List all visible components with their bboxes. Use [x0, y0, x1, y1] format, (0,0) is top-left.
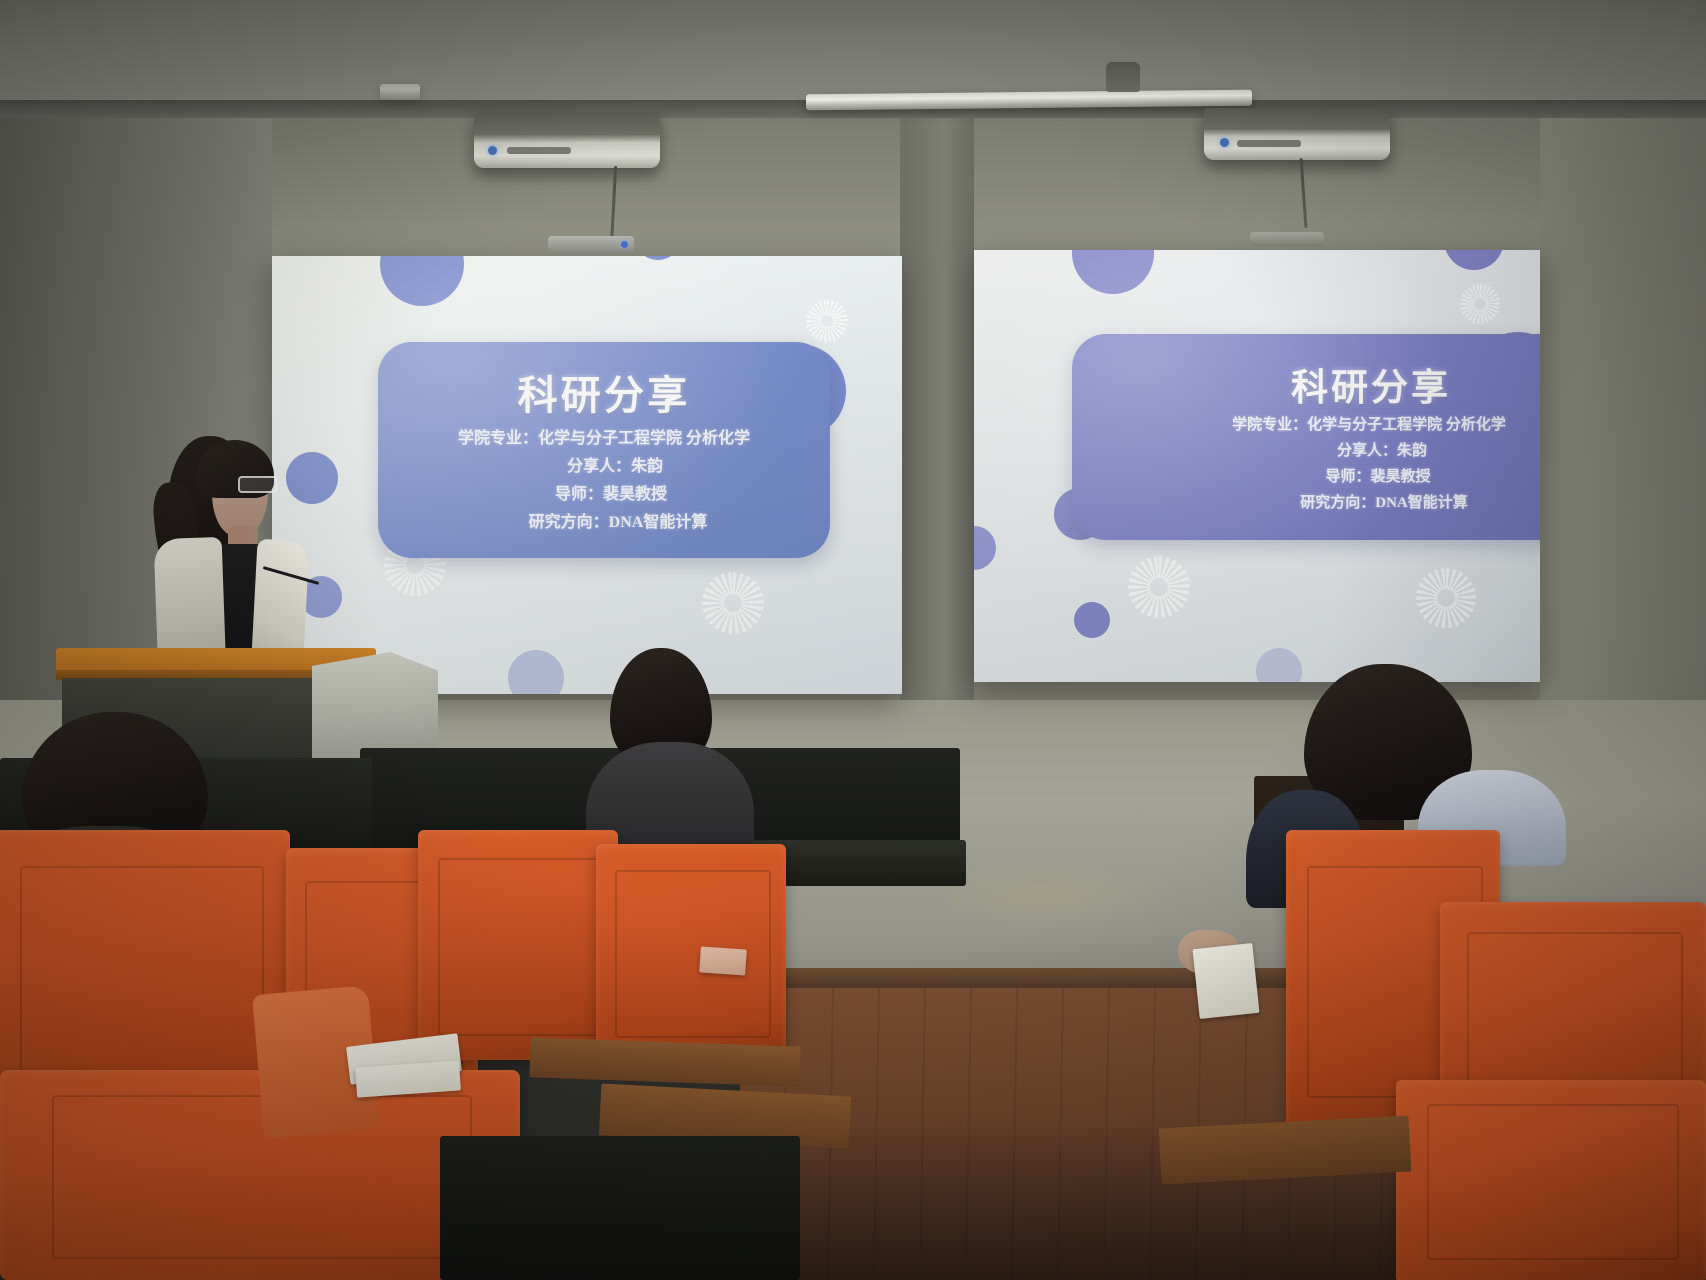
decorative-circle — [1444, 250, 1504, 270]
ceiling-speaker-right — [1250, 232, 1324, 246]
sunburst-decoration-icon — [806, 300, 848, 342]
projector-lens-icon — [1220, 138, 1229, 147]
slide-title-card: 科研分享 学院专业：化学与分子工程学院 分析化学 分享人：朱韵 导师：裴昊教授 … — [378, 342, 830, 558]
decorative-circle — [1072, 250, 1154, 294]
lecture-hall-photo: 科研分享 学院专业：化学与分子工程学院 分析化学 分享人：朱韵 导师：裴昊教授 … — [0, 0, 1706, 1280]
sunburst-decoration-icon — [702, 572, 764, 634]
slide-line-presenter: 分享人：朱韵 — [567, 453, 663, 481]
slide-line-advisor: 导师：裴昊教授 — [555, 481, 667, 509]
speaker-led-icon — [621, 241, 628, 248]
left-projection-screen: 科研分享 学院专业：化学与分子工程学院 分析化学 分享人：朱韵 导师：裴昊教授 … — [272, 256, 902, 694]
slide-title: 科研分享 — [1291, 357, 1451, 411]
glasses-icon — [238, 476, 278, 493]
handout-paper — [1193, 943, 1260, 1019]
right-wall-edge — [1540, 118, 1706, 758]
slide-title-card: 科研分享 学院专业：化学与分子工程学院 分析化学 分享人：朱韵 导师：裴昊教授 … — [1072, 334, 1540, 540]
slide-line-college-major: 学院专业：化学与分子工程学院 分析化学 — [1232, 413, 1506, 439]
desk-item — [699, 946, 747, 975]
presenter — [150, 428, 320, 678]
sunburst-decoration-icon — [1128, 556, 1190, 618]
slide-line-research-direction: 研究方向：DNA智能计算 — [1300, 491, 1468, 517]
slide-line-presenter: 分享人：朱韵 — [1337, 439, 1427, 465]
slide-line-advisor: 导师：裴昊教授 — [1325, 465, 1430, 491]
row-desk — [529, 1037, 800, 1086]
wall-stain — [950, 860, 1180, 930]
row-desk — [440, 1136, 800, 1280]
decorative-circle — [634, 256, 682, 260]
fluorescent-light-icon — [380, 84, 420, 100]
decorative-circle — [974, 526, 996, 570]
sunburst-decoration-icon — [1416, 568, 1476, 628]
projector-lens-icon — [488, 146, 497, 155]
decorative-circle — [1074, 602, 1110, 638]
ceiling-speaker-left — [548, 236, 634, 254]
slide-title: 科研分享 — [518, 363, 691, 421]
sunburst-decoration-icon — [1460, 284, 1500, 324]
decorative-circle — [508, 650, 564, 694]
projector-right — [1204, 108, 1390, 160]
decorative-circle — [380, 256, 464, 306]
right-projection-screen: 科研分享 学院专业：化学与分子工程学院 分析化学 分享人：朱韵 导师：裴昊教授 … — [974, 250, 1540, 682]
auditorium-seat — [1396, 1080, 1706, 1280]
slide-line-college-major: 学院专业：化学与分子工程学院 分析化学 — [458, 425, 750, 453]
ceiling-mount-icon — [1106, 62, 1140, 92]
auditorium-seat — [596, 844, 786, 1060]
center-wall-pillar — [900, 118, 974, 718]
auditorium-seat — [418, 830, 618, 1060]
decorative-circle — [1256, 648, 1302, 682]
projector-left — [474, 112, 660, 168]
slide-line-research-direction: 研究方向：DNA智能计算 — [529, 509, 708, 537]
